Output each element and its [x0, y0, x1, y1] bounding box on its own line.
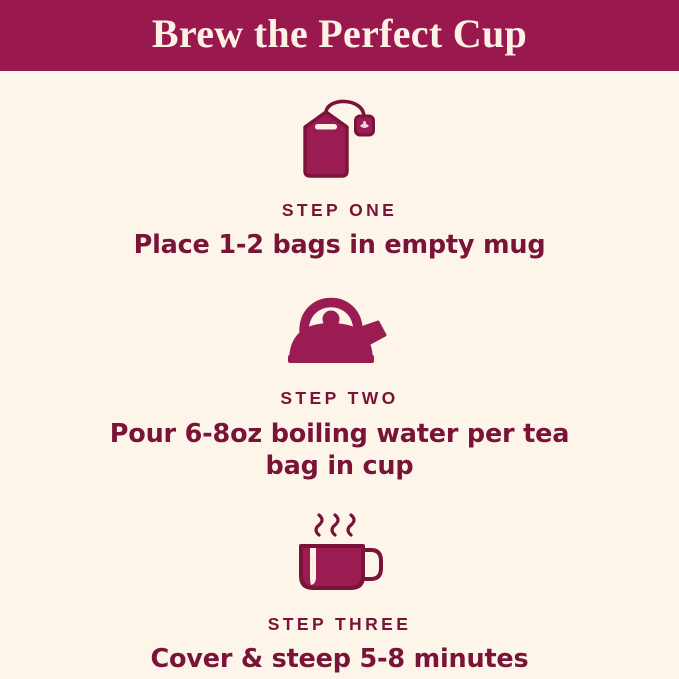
page-title: Brew the Perfect Cup	[152, 14, 527, 57]
kettle-icon	[275, 285, 405, 367]
steaming-mug-icon	[285, 504, 395, 594]
step-one-text: Place 1-2 bags in empty mug	[134, 229, 546, 261]
step-item-one: STEP ONE Place 1-2 bags in empty mug	[0, 71, 679, 261]
steps-list: STEP ONE Place 1-2 bags in empty mug	[0, 71, 679, 679]
brew-instructions-page: Brew the Perfect Cup	[0, 0, 679, 679]
step-one-kicker: STEP ONE	[282, 200, 397, 221]
step-three-kicker: STEP THREE	[268, 614, 412, 635]
step-three-text: Cover & steep 5-8 minutes	[150, 643, 528, 675]
step-two-text: Pour 6-8oz boiling water per tea bag in …	[80, 418, 600, 482]
step-item-two: STEP TWO Pour 6-8oz boiling water per te…	[0, 261, 679, 482]
step-item-three: STEP THREE Cover & steep 5-8 minutes	[0, 482, 679, 675]
header-bar: Brew the Perfect Cup	[0, 0, 679, 71]
tea-bag-icon	[285, 93, 395, 181]
step-two-kicker: STEP TWO	[280, 388, 398, 409]
